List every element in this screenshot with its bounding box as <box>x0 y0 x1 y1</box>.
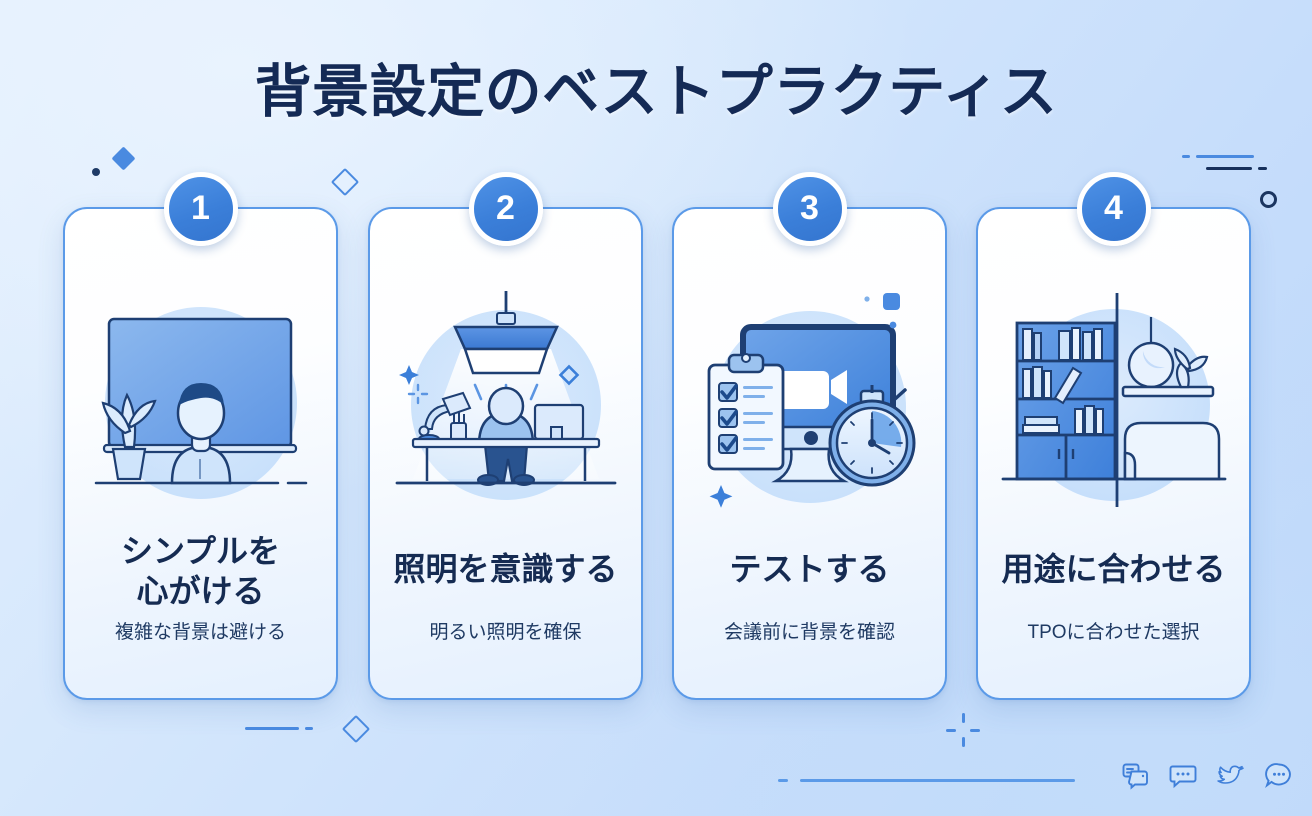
navy-line-top-right-icon <box>1206 167 1252 170</box>
round-chat-bubble-icon[interactable] <box>1264 760 1294 790</box>
card-2[interactable]: 2 <box>368 207 643 700</box>
card-3-illustration <box>674 271 945 541</box>
sparkle-cross-bottom-center-icon <box>946 713 980 747</box>
navy-dot-top-left-icon <box>92 168 100 176</box>
footer-line <box>800 779 1075 782</box>
card-2-title: 照明を意識する <box>378 549 633 589</box>
card-3[interactable]: 3 <box>672 207 947 700</box>
card-2-illustration <box>370 271 641 541</box>
navy-dash-top-right-icon <box>1258 167 1267 170</box>
footer-dash <box>778 779 788 782</box>
blue-dash-top-right-icon <box>1182 155 1190 158</box>
diamond-outline-top-left-icon <box>331 168 359 196</box>
square-chat-bubble-icon[interactable] <box>1168 760 1198 790</box>
circle-outline-top-right-icon <box>1260 191 1277 208</box>
blue-line-bottom-left-icon <box>245 727 299 730</box>
card-1-illustration <box>65 271 336 541</box>
card-3-number-badge: 3 <box>773 172 847 246</box>
blue-line-top-right-icon <box>1196 155 1254 158</box>
twitter-bird-icon[interactable] <box>1216 760 1246 790</box>
diamond-outline-bottom-left-icon <box>342 715 370 743</box>
card-4-number-badge: 4 <box>1077 172 1151 246</box>
card-4-subtitle: TPOに合わせた選択 <box>986 621 1241 646</box>
card-1-number-badge: 1 <box>164 172 238 246</box>
copy-documents-icon[interactable] <box>1120 760 1150 790</box>
page-title: 背景設定のベストプラクティス <box>0 46 1312 128</box>
card-2-subtitle: 明るい照明を確保 <box>378 621 633 646</box>
card-4-illustration <box>978 271 1249 541</box>
card-2-number-badge: 2 <box>469 172 543 246</box>
blue-dash-bottom-left-icon <box>305 727 313 730</box>
card-3-title: テストする <box>682 549 937 589</box>
card-1[interactable]: 1 <box>63 207 338 700</box>
card-1-subtitle: 複雑な背景は避ける <box>73 621 328 646</box>
card-1-title: シンプルを 心がける <box>73 531 328 612</box>
card-3-subtitle: 会議前に背景を確認 <box>682 621 937 646</box>
infographic-canvas: 背景設定のベストプラクティス 1 <box>0 0 1312 816</box>
card-4[interactable]: 4 <box>976 207 1251 700</box>
footer-icon-group <box>1120 760 1294 790</box>
blue-diamond-top-left-icon <box>111 146 135 170</box>
card-4-title: 用途に合わせる <box>986 549 1241 589</box>
